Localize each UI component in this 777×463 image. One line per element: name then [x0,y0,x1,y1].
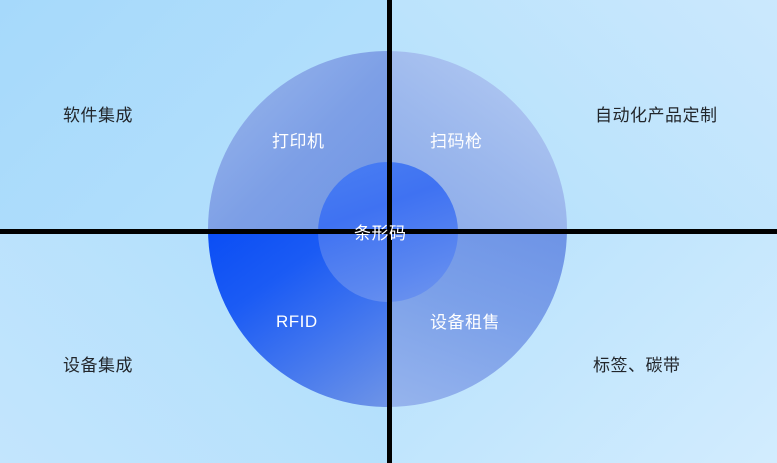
ring-label-printer: 打印机 [272,133,325,150]
center-label-barcode: 条形码 [354,225,407,242]
ring-label-rfid: RFID [276,313,318,330]
outer-label-labels-ribbons: 标签、碳带 [593,357,681,374]
outer-label-automation-custom: 自动化产品定制 [595,107,718,124]
outer-label-equipment-integration: 设备集成 [63,357,133,374]
ring-label-rental: 设备租售 [430,314,500,331]
ring-label-scanner: 扫码枪 [430,133,483,150]
outer-label-software-integration: 软件集成 [63,107,133,124]
diagram-canvas: 软件集成 自动化产品定制 设备集成 标签、碳带 打印机 扫码枪 RFID 设备租… [0,0,777,463]
